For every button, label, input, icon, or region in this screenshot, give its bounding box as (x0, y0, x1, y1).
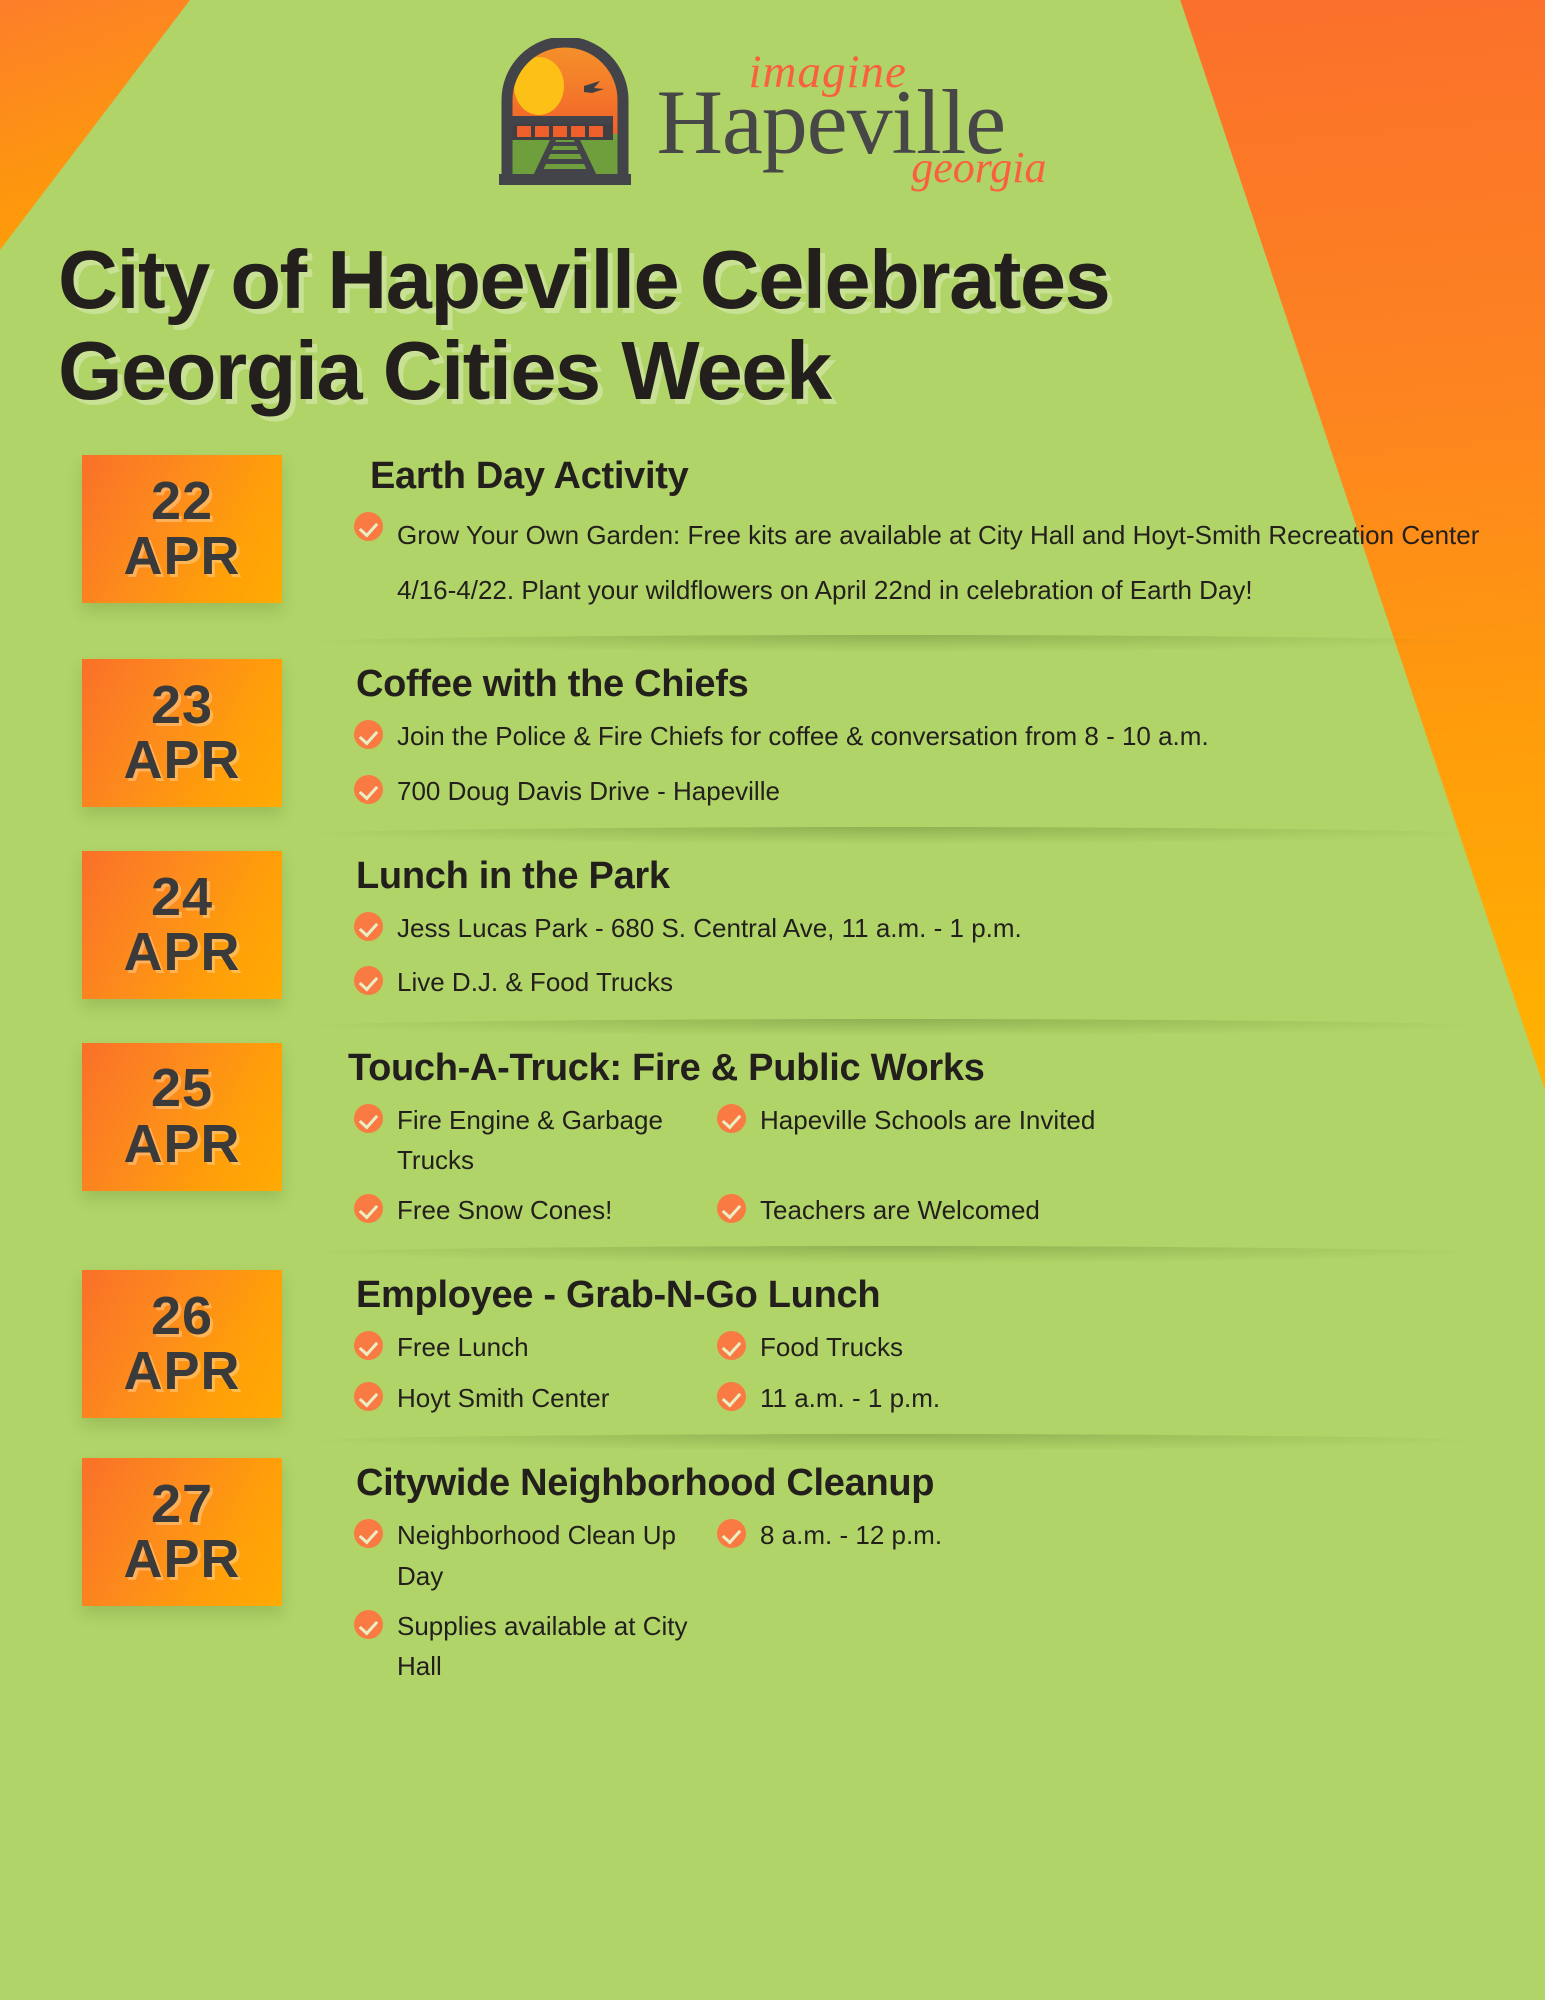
event-bullet: 8 a.m. - 12 p.m. (717, 1515, 1495, 1596)
section-divider (300, 819, 1485, 845)
event-bullet: Teachers are Welcomed (717, 1190, 1495, 1230)
event-bullet-text: Live D.J. & Food Trucks (397, 962, 673, 1002)
event-bullet-text: Hapeville Schools are Invited (760, 1100, 1095, 1140)
event-bullet: Hoyt Smith Center (354, 1378, 699, 1418)
event-body: Lunch in the ParkJess Lucas Park - 680 S… (282, 851, 1495, 1003)
check-circle-icon (354, 1519, 383, 1548)
event-date-month: APR (123, 529, 240, 584)
event-bullet-text: Fire Engine & Garbage Trucks (397, 1100, 699, 1181)
event-bullet-text: Join the Police & Fire Chiefs for coffee… (397, 716, 1209, 756)
event-list: 22APREarth Day ActivityGrow Your Own Gar… (0, 455, 1545, 1687)
event-date-badge: 22APR (82, 455, 282, 603)
event-bullet-text: Neighborhood Clean Up Day (397, 1515, 699, 1596)
event-bullet: Live D.J. & Food Trucks (354, 962, 1495, 1002)
event-bullet: Grow Your Own Garden: Free kits are avai… (354, 508, 1495, 620)
brand-wordmark: imagine Hapeville georgia (657, 39, 1057, 189)
check-circle-icon (354, 966, 383, 995)
event-bullet-text: Free Snow Cones! (397, 1190, 612, 1230)
event-bullet-list: Neighborhood Clean Up Day8 a.m. - 12 p.m… (354, 1515, 1495, 1686)
event-date-month: APR (123, 1532, 240, 1587)
event-bullet: 700 Doug Davis Drive - Hapeville (354, 771, 1495, 811)
event-body: Touch-A-Truck: Fire & Public WorksFire E… (282, 1043, 1495, 1231)
event-bullet: Join the Police & Fire Chiefs for coffee… (354, 716, 1495, 756)
event-date-day: 27 (151, 1477, 213, 1532)
section-divider (300, 1426, 1485, 1452)
event-bullet: Hapeville Schools are Invited (717, 1100, 1495, 1181)
event-row: 22APREarth Day ActivityGrow Your Own Gar… (0, 455, 1545, 620)
event-bullet-text: 700 Doug Davis Drive - Hapeville (397, 771, 780, 811)
check-circle-icon (717, 1519, 746, 1548)
event-bullet: Fire Engine & Garbage Trucks (354, 1100, 699, 1181)
poster-content: imagine Hapeville georgia City of Hapevi… (0, 0, 1545, 1687)
check-circle-icon (717, 1331, 746, 1360)
event-bullet: Free Lunch (354, 1327, 699, 1367)
section-divider (300, 627, 1485, 653)
check-circle-icon (354, 1104, 383, 1133)
event-body: Employee - Grab-N-Go LunchFree LunchFood… (282, 1270, 1495, 1418)
event-title: Citywide Neighborhood Cleanup (356, 1462, 1495, 1505)
check-circle-icon (354, 1382, 383, 1411)
page-title: City of Hapeville Celebrates Georgia Cit… (58, 234, 1118, 417)
check-circle-icon (354, 1194, 383, 1223)
event-bullet-list: Free LunchFood TrucksHoyt Smith Center11… (354, 1327, 1495, 1418)
event-title: Earth Day Activity (370, 455, 1495, 498)
event-date-day: 24 (151, 870, 213, 925)
event-date-day: 26 (151, 1289, 213, 1344)
event-date-month: APR (123, 1344, 240, 1399)
check-circle-icon (717, 1382, 746, 1411)
event-row: 25APRTouch-A-Truck: Fire & Public WorksF… (0, 1043, 1545, 1231)
event-bullet-list: Grow Your Own Garden: Free kits are avai… (354, 508, 1495, 620)
event-date-day: 23 (151, 678, 213, 733)
event-body: Coffee with the ChiefsJoin the Police & … (282, 659, 1495, 811)
check-circle-icon (354, 1610, 383, 1639)
brand-header: imagine Hapeville georgia (0, 0, 1545, 190)
hapeville-arch-logo-icon (489, 38, 641, 190)
event-bullet: 11 a.m. - 1 p.m. (717, 1378, 1495, 1418)
event-date-badge: 26APR (82, 1270, 282, 1418)
event-date-month: APR (123, 1117, 240, 1172)
event-date-badge: 24APR (82, 851, 282, 999)
check-circle-icon (717, 1104, 746, 1133)
event-title: Touch-A-Truck: Fire & Public Works (348, 1047, 1495, 1090)
section-divider (300, 1238, 1485, 1264)
event-body: Earth Day ActivityGrow Your Own Garden: … (282, 455, 1495, 620)
event-row: 23APRCoffee with the ChiefsJoin the Poli… (0, 659, 1545, 811)
event-bullet-list: Join the Police & Fire Chiefs for coffee… (354, 716, 1495, 811)
event-row: 27APRCitywide Neighborhood CleanupNeighb… (0, 1458, 1545, 1686)
event-bullet-text: 8 a.m. - 12 p.m. (760, 1515, 942, 1555)
event-bullet: Free Snow Cones! (354, 1190, 699, 1230)
event-bullet: Supplies available at City Hall (354, 1606, 699, 1687)
check-circle-icon (354, 512, 383, 541)
event-date-day: 22 (151, 474, 213, 529)
event-bullet-list: Jess Lucas Park - 680 S. Central Ave, 11… (354, 908, 1495, 1003)
event-date-badge: 23APR (82, 659, 282, 807)
check-circle-icon (354, 720, 383, 749)
event-bullet-text: Supplies available at City Hall (397, 1606, 699, 1687)
event-date-badge: 25APR (82, 1043, 282, 1191)
event-bullet: Food Trucks (717, 1327, 1495, 1367)
event-row: 26APREmployee - Grab-N-Go LunchFree Lunc… (0, 1270, 1545, 1418)
event-bullet-text: 11 a.m. - 1 p.m. (760, 1378, 940, 1418)
event-title: Lunch in the Park (356, 855, 1495, 898)
event-bullet-text: Hoyt Smith Center (397, 1378, 609, 1418)
event-row: 24APRLunch in the ParkJess Lucas Park - … (0, 851, 1545, 1003)
check-circle-icon (354, 775, 383, 804)
event-bullet-list: Fire Engine & Garbage TrucksHapeville Sc… (354, 1100, 1495, 1231)
event-bullet: Jess Lucas Park - 680 S. Central Ave, 11… (354, 908, 1495, 948)
event-body: Citywide Neighborhood CleanupNeighborhoo… (282, 1458, 1495, 1686)
event-bullet-text: Grow Your Own Garden: Free kits are avai… (397, 508, 1495, 620)
event-title: Coffee with the Chiefs (356, 663, 1495, 706)
page-title-line-2: Georgia Cities Week (58, 325, 1118, 416)
event-bullet-text: Food Trucks (760, 1327, 903, 1367)
event-date-badge: 27APR (82, 1458, 282, 1606)
event-bullet: Neighborhood Clean Up Day (354, 1515, 699, 1596)
event-bullet-text: Teachers are Welcomed (760, 1190, 1040, 1230)
check-circle-icon (354, 912, 383, 941)
event-date-month: APR (123, 925, 240, 980)
poster: imagine Hapeville georgia City of Hapevi… (0, 0, 1545, 2000)
event-bullet-text: Jess Lucas Park - 680 S. Central Ave, 11… (397, 908, 1022, 948)
event-date-day: 25 (151, 1061, 213, 1116)
event-title: Employee - Grab-N-Go Lunch (356, 1274, 1495, 1317)
event-bullet-text: Free Lunch (397, 1327, 529, 1367)
event-date-month: APR (123, 733, 240, 788)
page-title-line-1: City of Hapeville Celebrates (58, 234, 1118, 325)
brand-tagline-bottom: georgia (911, 142, 1046, 193)
check-circle-icon (354, 1331, 383, 1360)
section-divider (300, 1011, 1485, 1037)
check-circle-icon (717, 1194, 746, 1223)
